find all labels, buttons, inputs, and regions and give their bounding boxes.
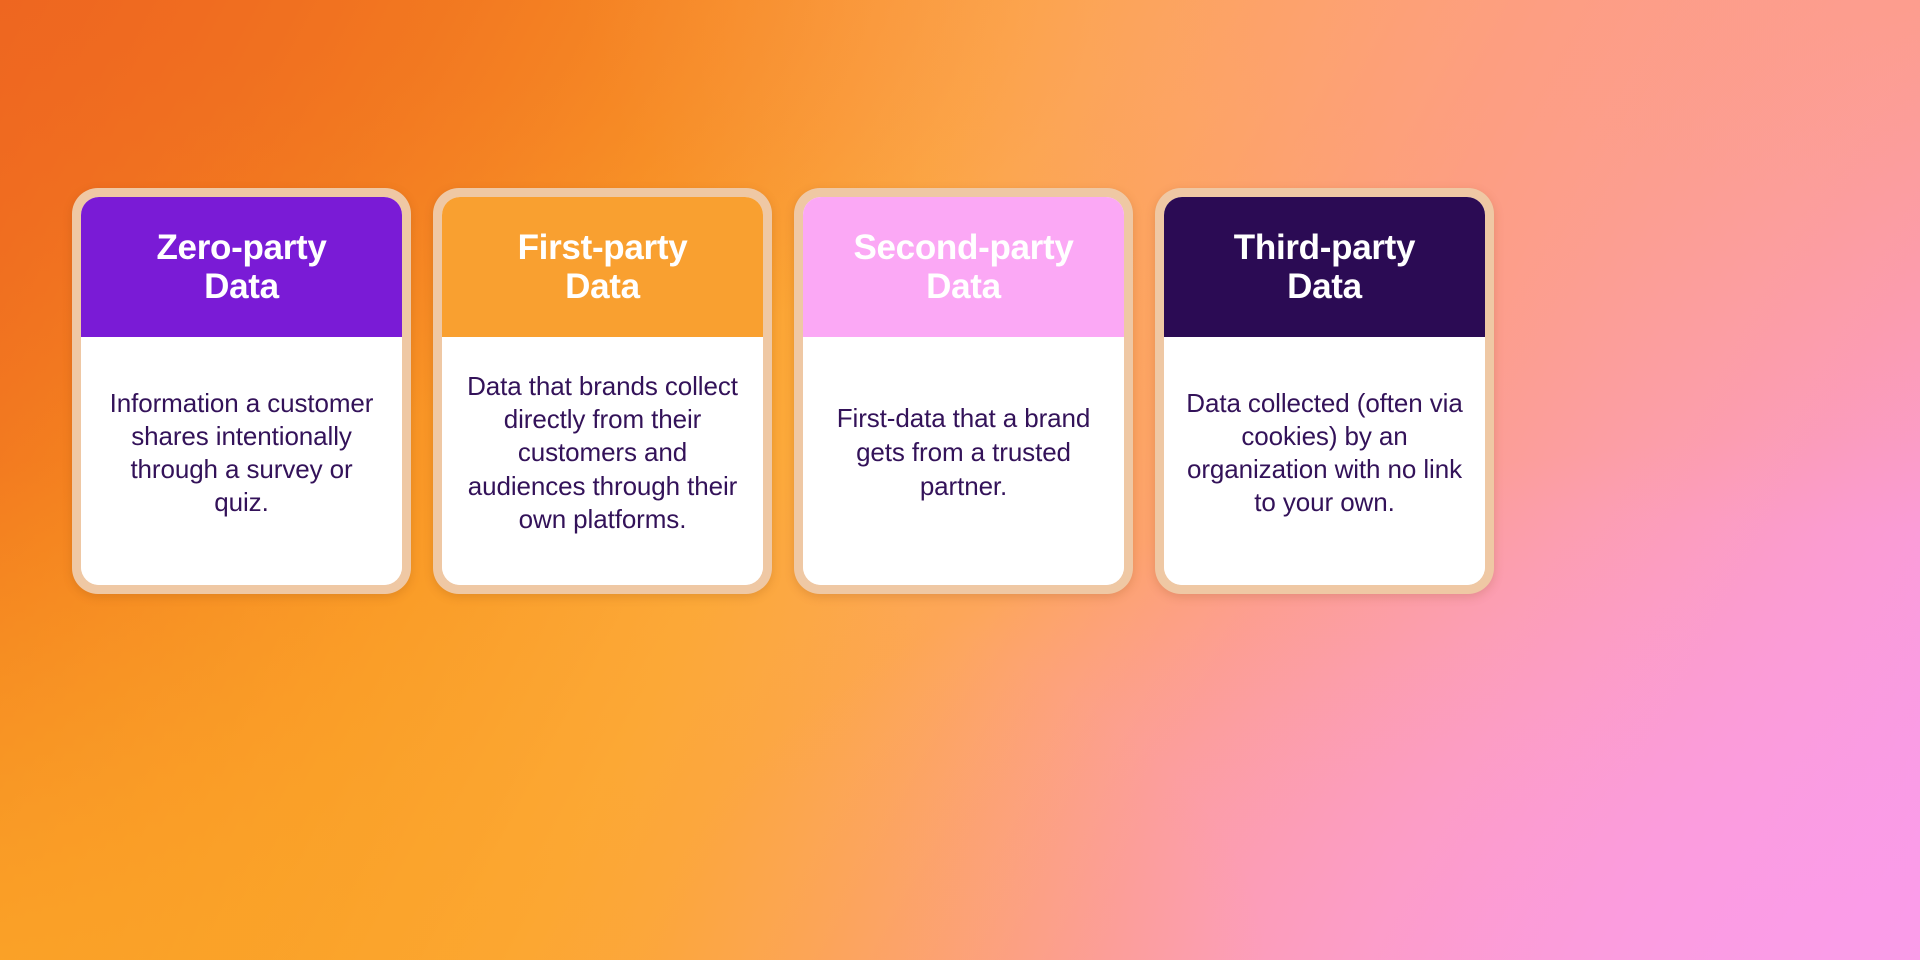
card-inner: Third-party Data Data collected (often v…	[1164, 197, 1485, 585]
card-body: Data that brands collect directly from t…	[442, 337, 763, 585]
card-zero-party-data: Zero-party Data Information a customer s…	[72, 188, 411, 594]
infographic-canvas: Zero-party Data Information a customer s…	[0, 0, 1920, 960]
card-second-party-data: Second-party Data First-data that a bran…	[794, 188, 1133, 594]
card-header: Second-party Data	[803, 197, 1124, 337]
card-body: Information a customer shares intentiona…	[81, 337, 402, 585]
card-inner: Second-party Data First-data that a bran…	[803, 197, 1124, 585]
card-description: Data that brands collect directly from t…	[462, 370, 743, 535]
card-header: First-party Data	[442, 197, 763, 337]
card-header: Third-party Data	[1164, 197, 1485, 337]
data-type-card-row: Zero-party Data Information a customer s…	[72, 188, 1494, 594]
card-title: Second-party Data	[853, 228, 1073, 306]
card-description: Information a customer shares intentiona…	[101, 387, 382, 519]
card-header: Zero-party Data	[81, 197, 402, 337]
card-body: Data collected (often via cookies) by an…	[1164, 337, 1485, 585]
card-first-party-data: First-party Data Data that brands collec…	[433, 188, 772, 594]
card-body: First-data that a brand gets from a trus…	[803, 337, 1124, 585]
card-inner: First-party Data Data that brands collec…	[442, 197, 763, 585]
card-title: Third-party Data	[1234, 228, 1415, 306]
card-title: Zero-party Data	[156, 228, 326, 306]
card-description: First-data that a brand gets from a trus…	[823, 402, 1104, 503]
card-description: Data collected (often via cookies) by an…	[1184, 387, 1465, 519]
card-inner: Zero-party Data Information a customer s…	[81, 197, 402, 585]
card-title: First-party Data	[518, 228, 688, 306]
card-third-party-data: Third-party Data Data collected (often v…	[1155, 188, 1494, 594]
